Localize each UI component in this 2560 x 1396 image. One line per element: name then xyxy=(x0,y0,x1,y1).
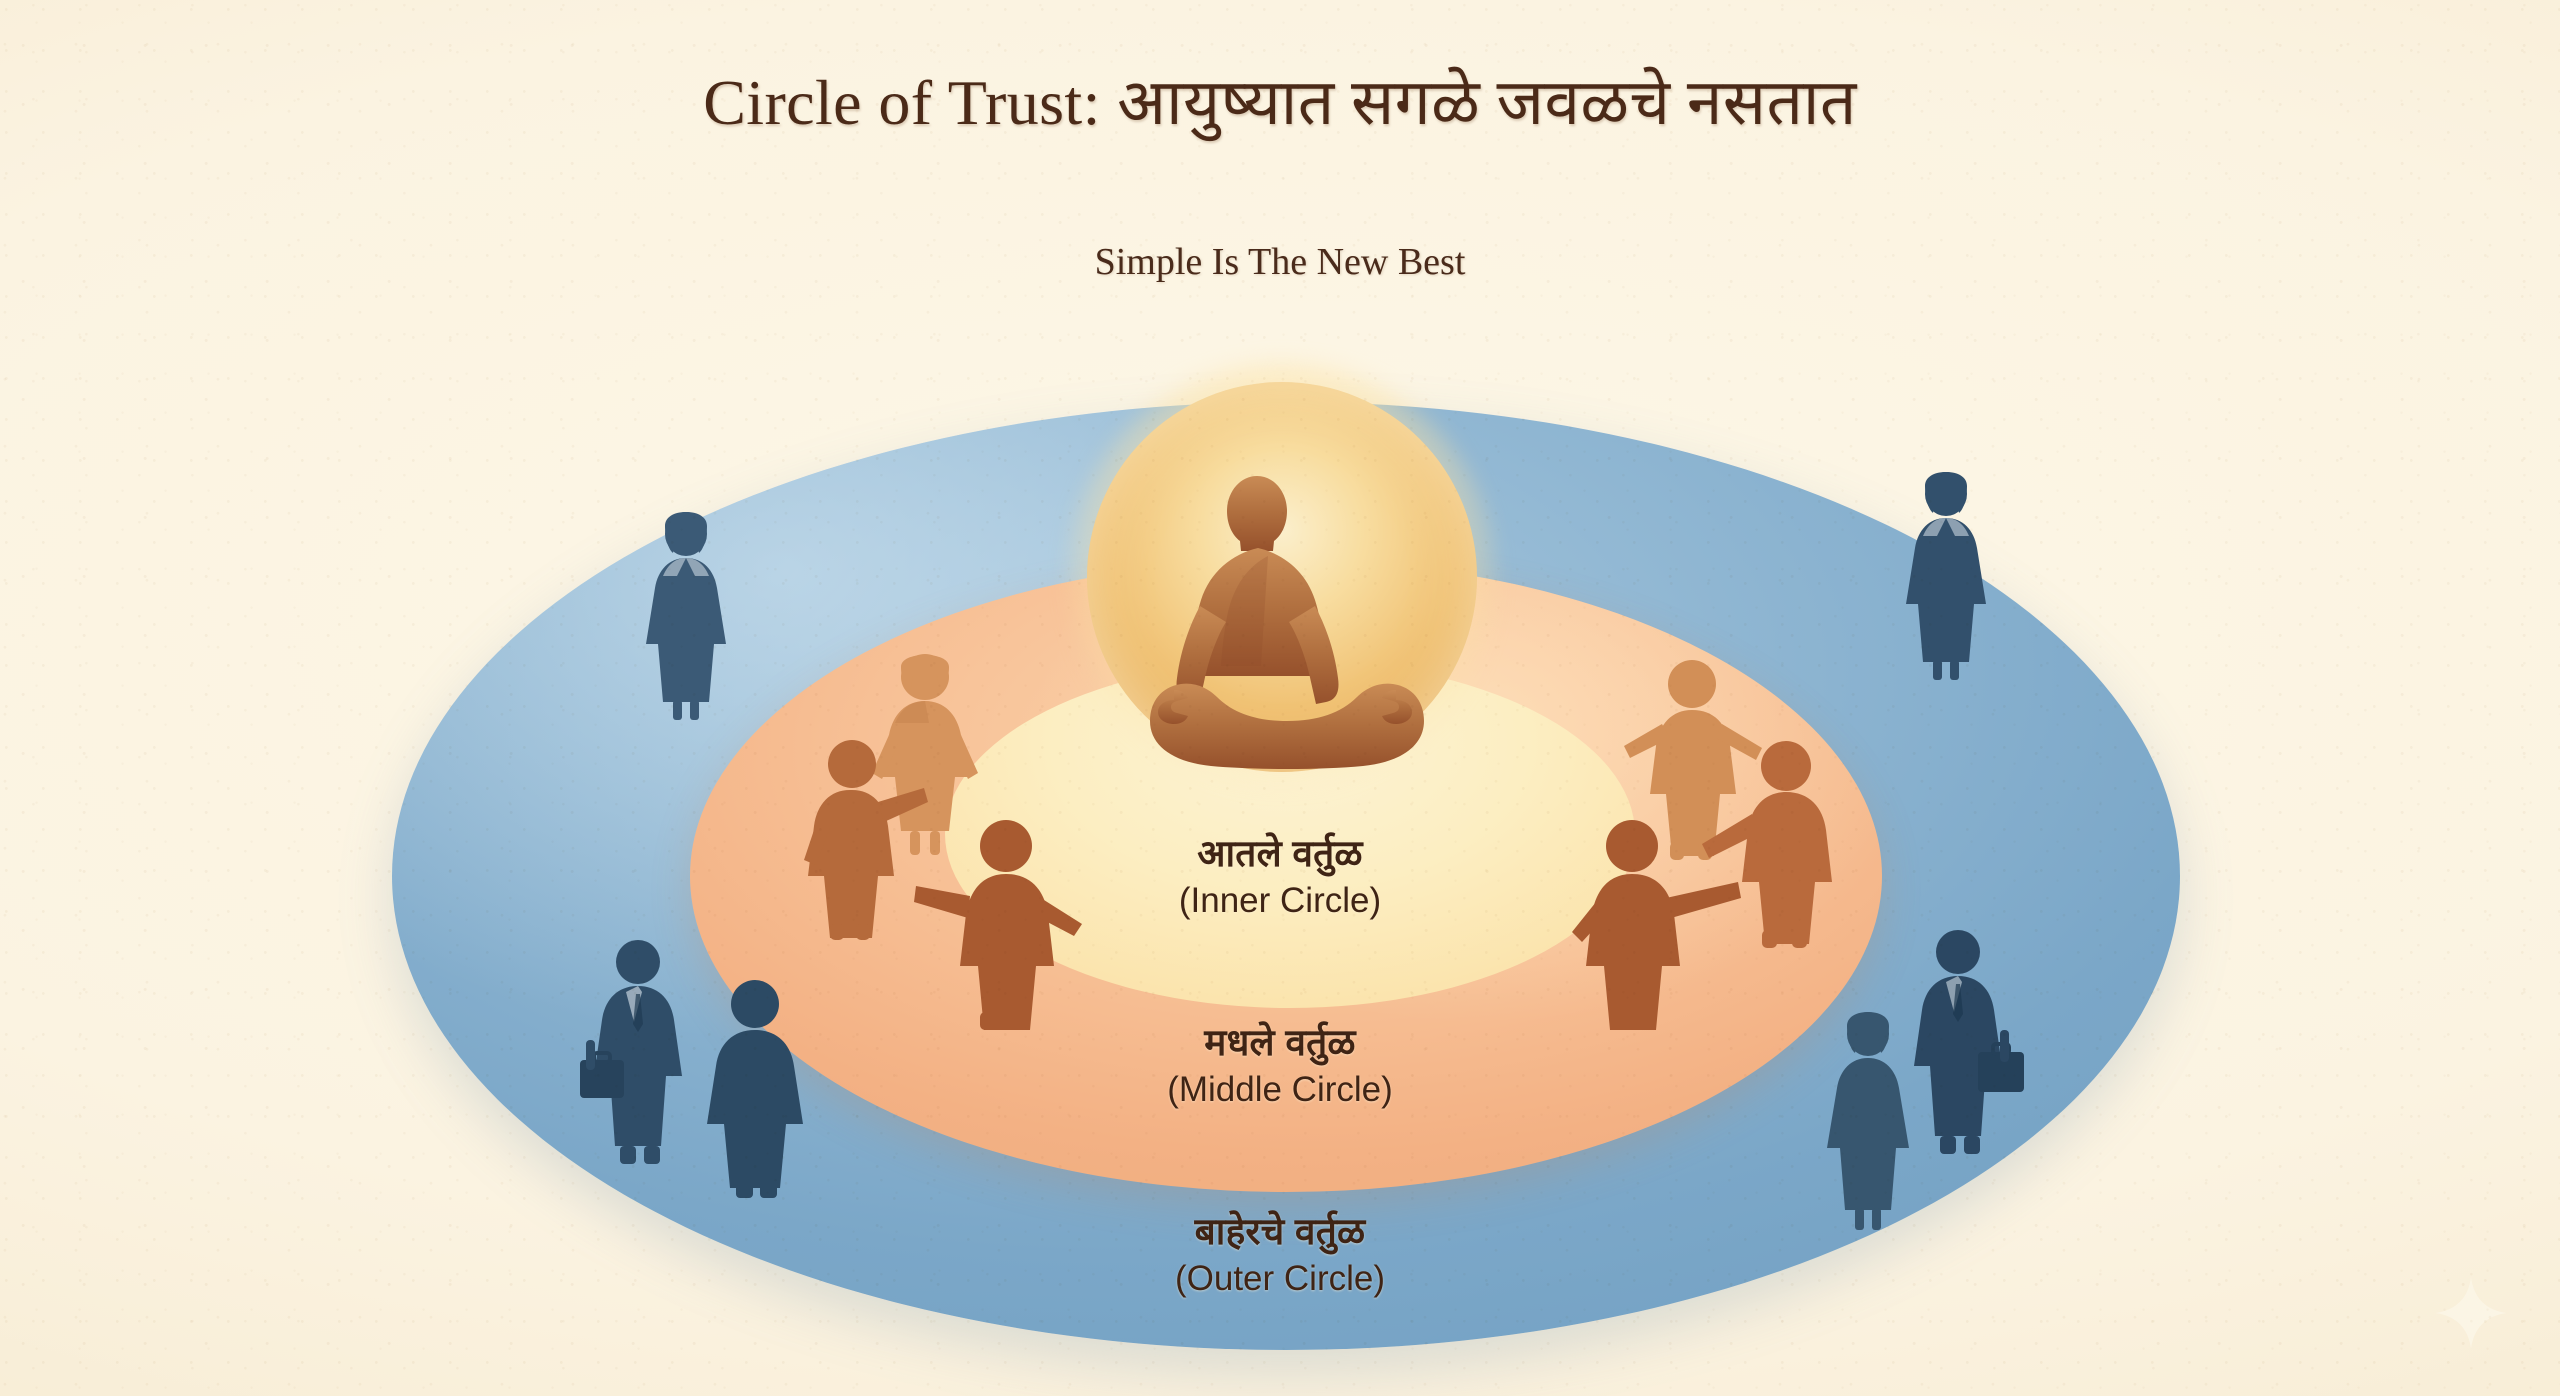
middle-circle-person-man-front-right xyxy=(1570,820,1750,1030)
inner-circle-label: आतले वर्तुळ (Inner Circle) xyxy=(970,832,1590,921)
sparkle-icon xyxy=(2434,1276,2508,1350)
outer-circle-label-marathi: बाहेरचे वर्तुळ xyxy=(970,1210,1590,1254)
inner-circle-label-english: (Inner Circle) xyxy=(970,880,1590,921)
outer-circle-person-man-left xyxy=(700,980,810,1200)
outer-circle-person-woman-upper-right xyxy=(1900,470,1992,680)
outer-circle-person-businessman-left xyxy=(580,940,700,1170)
outer-circle-label-english: (Outer Circle) xyxy=(970,1258,1590,1299)
middle-circle-label: मधले वर्तुळ (Middle Circle) xyxy=(970,1021,1590,1110)
illustration-canvas: Circle of Trust: आयुष्यात सगळे जवळचे नसत… xyxy=(0,0,2560,1396)
middle-circle-label-english: (Middle Circle) xyxy=(970,1069,1590,1110)
page-title: Circle of Trust: आयुष्यात सगळे जवळचे नसत… xyxy=(0,56,2560,143)
meditating-person-icon xyxy=(1150,470,1420,770)
outer-circle-label: बाहेरचे वर्तुळ (Outer Circle) xyxy=(970,1210,1590,1299)
middle-circle-label-marathi: मधले वर्तुळ xyxy=(970,1021,1590,1065)
outer-circle-person-businessman-right xyxy=(1900,930,2030,1160)
outer-circle-person-woman-upper-left xyxy=(640,510,732,720)
inner-circle-label-marathi: आतले वर्तुळ xyxy=(970,832,1590,876)
page-subtitle: Simple Is The New Best xyxy=(0,240,2560,284)
